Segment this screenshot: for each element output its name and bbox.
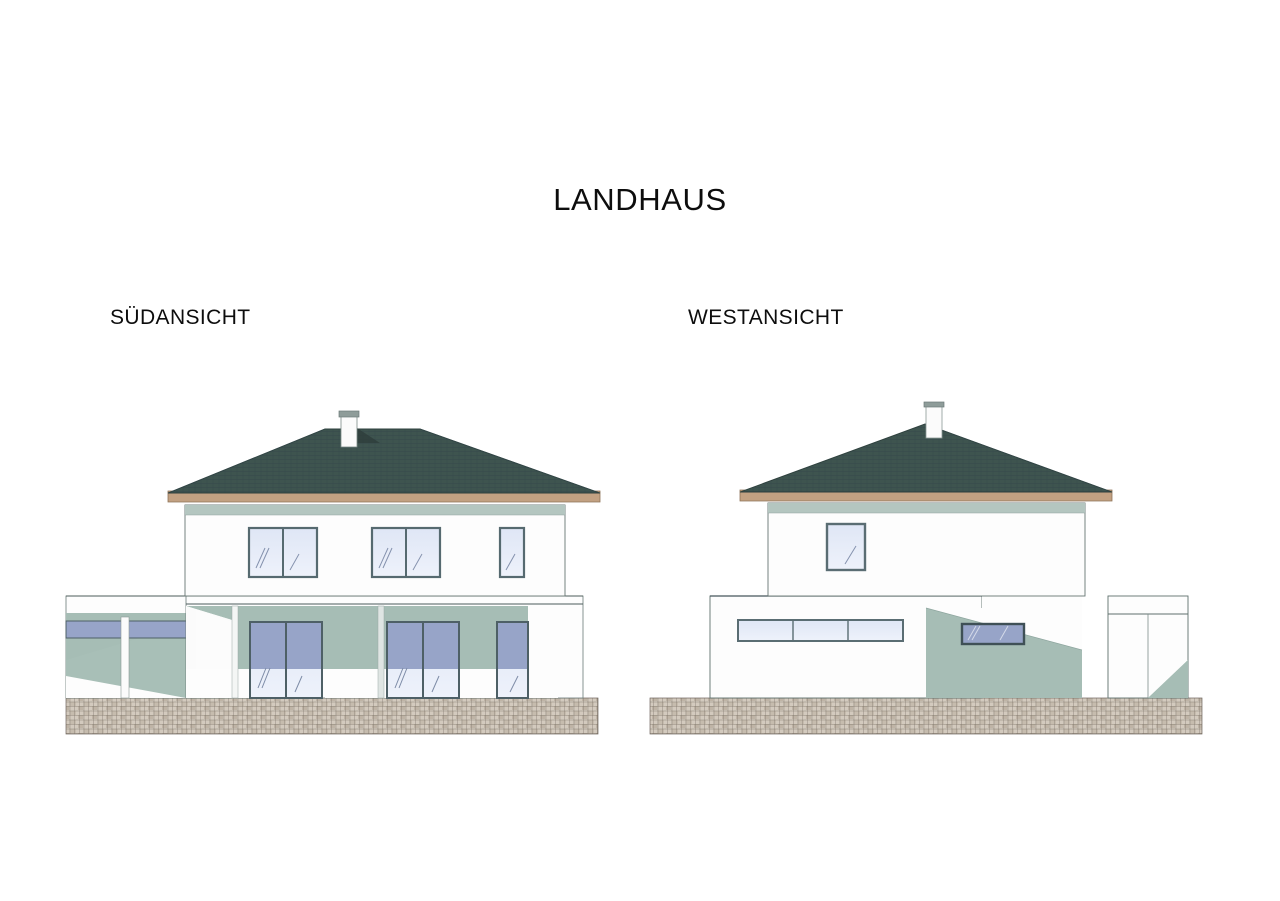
window-upper-center[interactable] bbox=[372, 528, 440, 577]
elevation-west bbox=[620, 0, 1240, 780]
ground-floor-main bbox=[186, 596, 583, 698]
carport bbox=[1108, 596, 1188, 698]
window-upper-right[interactable] bbox=[500, 528, 524, 577]
chimney bbox=[924, 402, 944, 438]
clerestory-window-right bbox=[128, 621, 190, 638]
ribbon-window[interactable] bbox=[738, 620, 903, 641]
hipped-roof bbox=[168, 428, 600, 493]
upper-floor-wall bbox=[185, 505, 565, 596]
window-annex[interactable] bbox=[962, 624, 1024, 644]
terrain-strip bbox=[66, 698, 598, 734]
elevation-south bbox=[0, 0, 660, 780]
terrain-strip bbox=[650, 698, 1202, 734]
upper-floor-wall bbox=[768, 503, 1085, 596]
clerestory-window-left bbox=[66, 621, 122, 638]
patio-door-left[interactable] bbox=[250, 622, 322, 698]
drawing-sheet: LANDHAUS SÜDANSICHT WESTANSICHT bbox=[0, 0, 1280, 901]
window-upper-left[interactable] bbox=[249, 528, 317, 577]
window-upper-west[interactable] bbox=[827, 524, 865, 570]
patio-door-right[interactable] bbox=[497, 622, 528, 698]
patio-door-center[interactable] bbox=[387, 622, 459, 698]
flat-roof-annex bbox=[710, 596, 1082, 698]
chimney bbox=[339, 411, 359, 447]
